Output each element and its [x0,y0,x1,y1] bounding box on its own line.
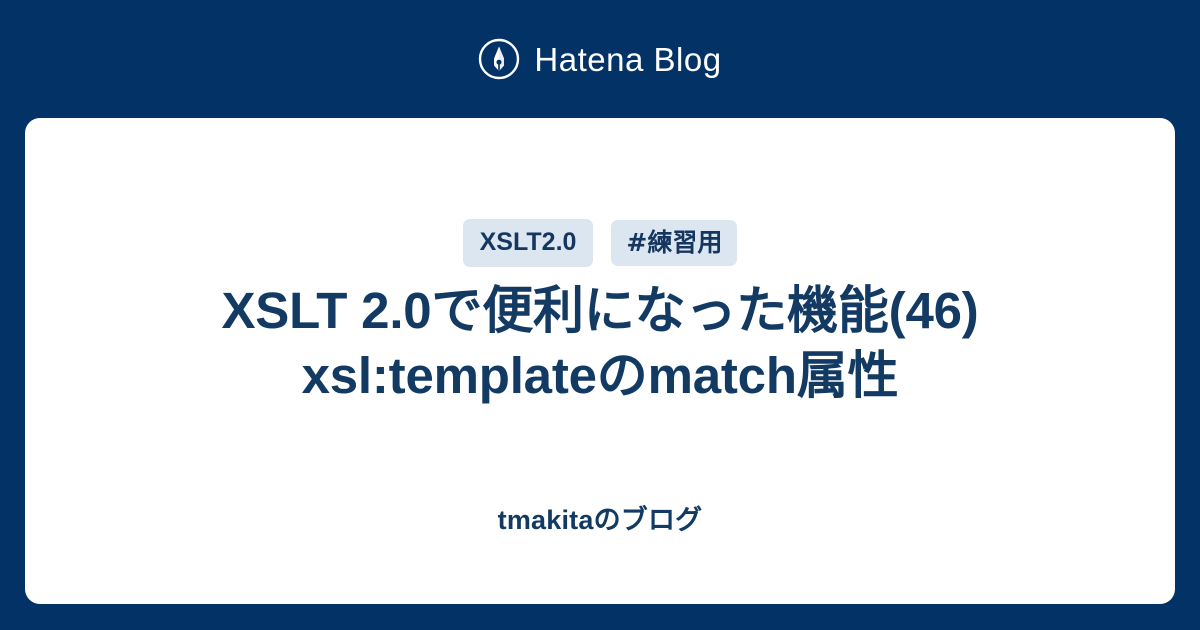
entry-card: XSLT2.0 #練習用 XSLT 2.0で便利になった機能(46) xsl:t… [25,118,1175,604]
entry-title-line-1: XSLT 2.0で便利になった機能(46) [65,279,1135,344]
tag-item-renshuyou[interactable]: #練習用 [611,220,737,266]
service-name: Hatena Blog [534,43,721,76]
entry-card-content: XSLT2.0 #練習用 XSLT 2.0で便利になった機能(46) xsl:t… [25,118,1175,604]
pen-nib-circle-icon [478,38,520,80]
tag-list: XSLT2.0 #練習用 [25,219,1175,267]
tag-item-xslt2-0[interactable]: XSLT2.0 [463,219,594,267]
blog-name[interactable]: tmakitaのブログ [25,507,1175,534]
entry-title: XSLT 2.0で便利になった機能(46) xsl:templateのmatch… [25,279,1175,409]
entry-title-line-2: xsl:templateのmatch属性 [65,344,1135,409]
service-header: Hatena Blog [0,0,1200,118]
